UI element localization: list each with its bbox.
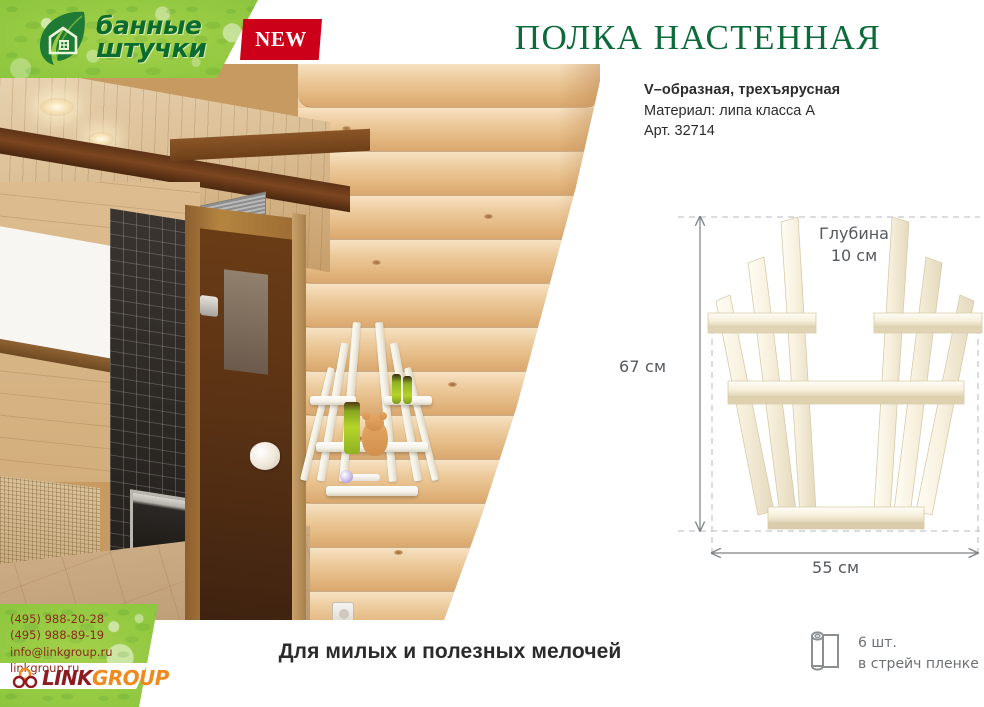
- brand-wordmark: банные штучки: [96, 14, 206, 62]
- linkgroup-logo: LINKGROUP: [12, 666, 169, 690]
- product-material: Материал: липа класса А: [644, 101, 964, 122]
- new-badge-label: NEW: [255, 27, 307, 52]
- leaf-house-icon: [36, 9, 90, 67]
- packaging-text: 6 шт. в стрейч пленке: [858, 633, 979, 674]
- width-dimension-label: 55 см: [812, 558, 859, 577]
- footer-tagline: Для милых и полезных мелочей: [170, 640, 730, 664]
- photo-towel-roll: [250, 442, 280, 470]
- depth-label-line1: Глубина: [794, 223, 914, 245]
- brand-logo: банные штучки: [36, 9, 206, 67]
- trefoil-icon: [12, 668, 38, 688]
- photo-door-edge: [292, 213, 306, 620]
- pack-type: в стрейч пленке: [858, 654, 979, 674]
- phone-2: (495) 988-89-19: [10, 627, 112, 643]
- linkgroup-wordmark: LINKGROUP: [42, 666, 169, 690]
- brand-line-2: штучки: [96, 38, 206, 62]
- linkgroup-group-text: GROUP: [92, 666, 169, 690]
- photo-door-inner: [224, 269, 268, 374]
- product-article: Арт. 32714: [644, 121, 964, 142]
- page-title: ПОЛКА НАСТЕННАЯ: [420, 18, 976, 58]
- product-info: V–образная, трехъярусная Материал: липа …: [644, 80, 964, 142]
- photo-lamp-1: [40, 98, 74, 116]
- photo-mounted-shelf: [310, 314, 435, 499]
- stretch-film-roll-icon: [800, 627, 844, 680]
- product-sheet: банные штучки NEW ПОЛКА НАСТЕННАЯ V–обра…: [0, 0, 984, 707]
- packaging-info: 6 шт. в стрейч пленке: [800, 627, 979, 680]
- email-address[interactable]: info@linkgroup.ru: [10, 644, 112, 660]
- depth-label-line2: 10 см: [794, 245, 914, 267]
- phone-1: (495) 988-20-28: [10, 611, 112, 627]
- product-photo: [0, 64, 600, 620]
- photo-wall-outlet: [332, 602, 354, 620]
- linkgroup-link-text: LINK: [42, 666, 92, 690]
- height-dimension-label: 67 см: [619, 357, 666, 376]
- dimension-diagram: 67 см 55 см Глубина 10 см: [620, 195, 984, 595]
- pack-quantity: 6 шт.: [858, 633, 979, 653]
- product-subtitle: V–образная, трехъярусная: [644, 80, 964, 101]
- depth-dimension-label: Глубина 10 см: [794, 223, 914, 266]
- photo-door-handle: [200, 295, 218, 317]
- new-badge: NEW: [240, 19, 322, 60]
